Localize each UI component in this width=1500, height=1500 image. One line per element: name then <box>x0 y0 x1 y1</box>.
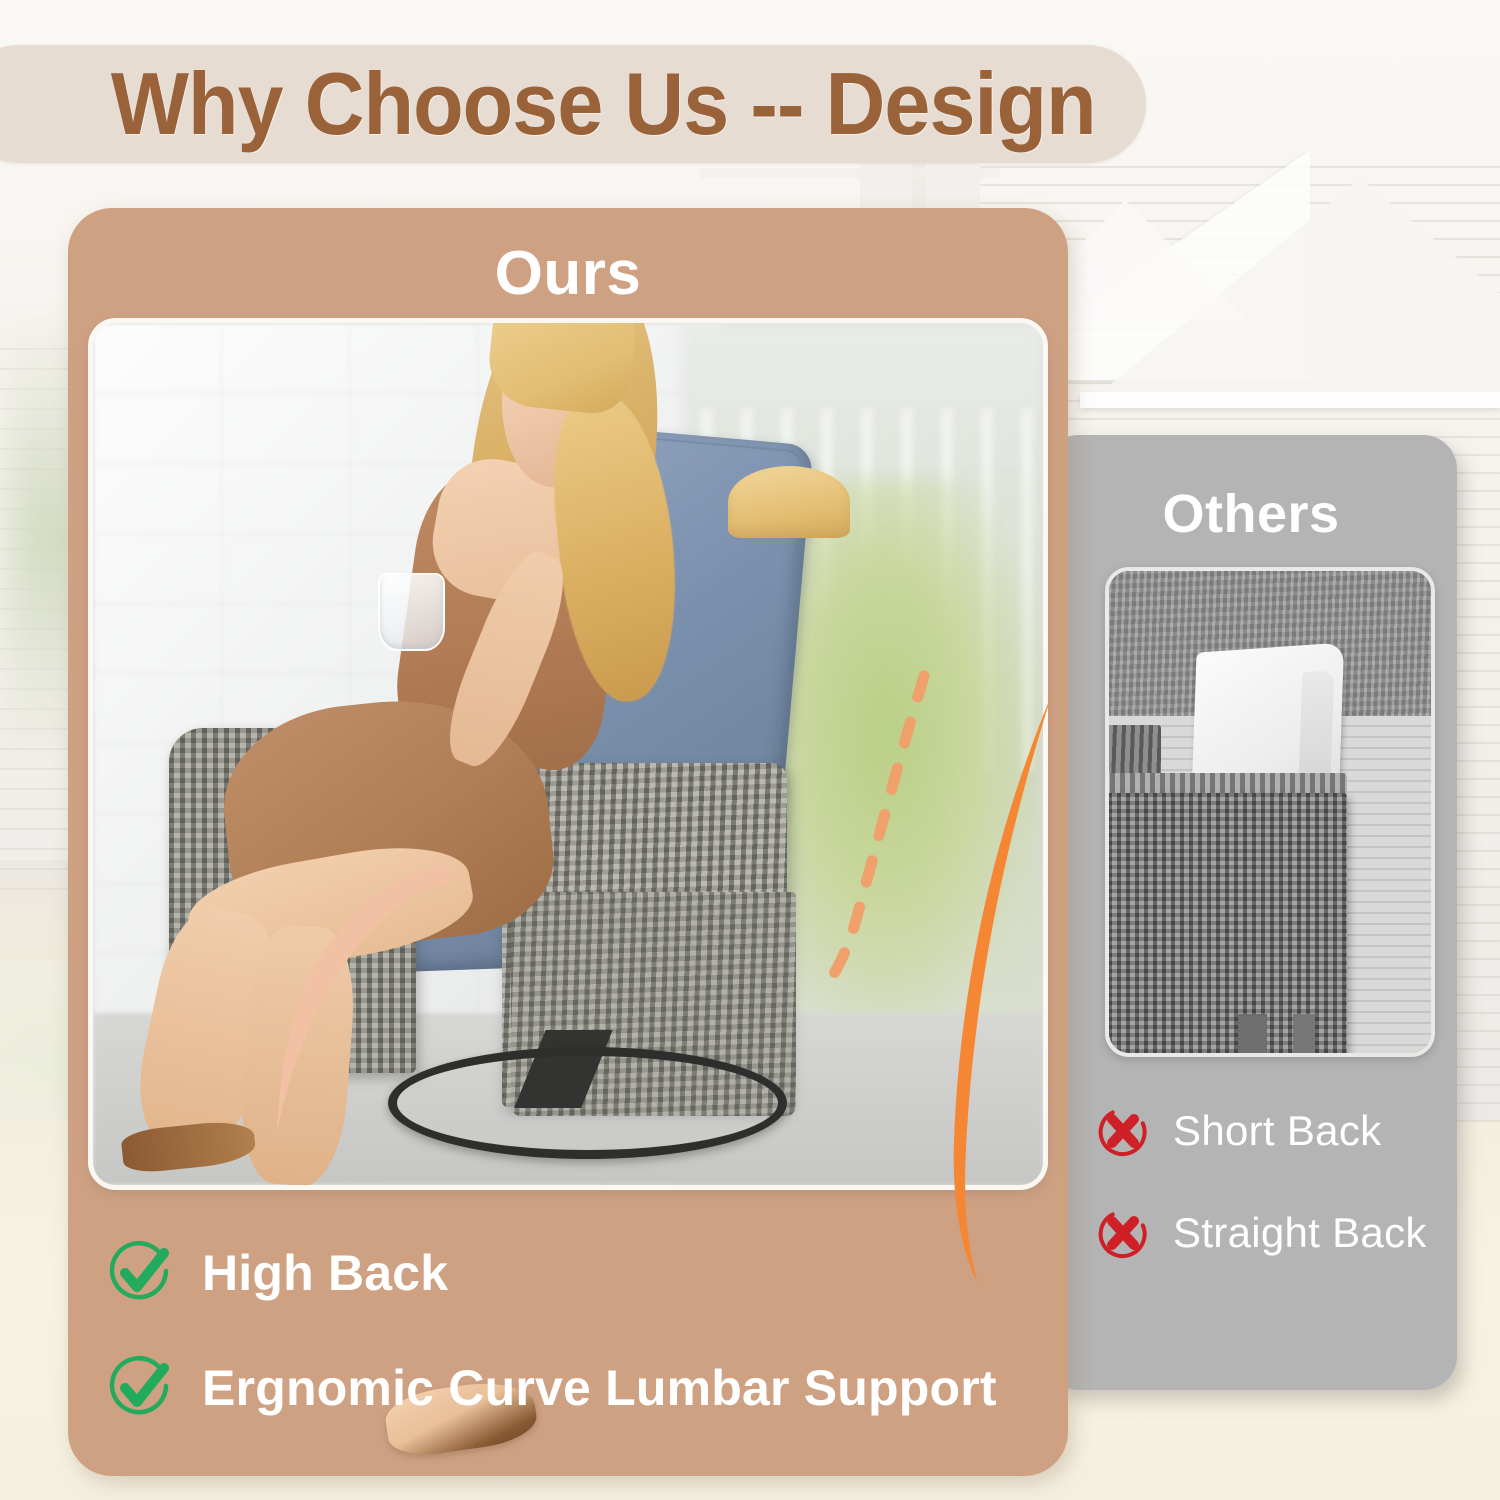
drawback-label: Short Back <box>1173 1107 1381 1155</box>
x-circle-icon <box>1095 1205 1151 1261</box>
drawback-row: Straight Back <box>1095 1205 1427 1261</box>
ours-heading: Ours <box>68 238 1068 309</box>
drawback-label: Straight Back <box>1173 1209 1427 1257</box>
ours-panel: Ours <box>68 208 1068 1476</box>
benefit-label: Ergnomic Curve Lumbar Support <box>202 1359 997 1417</box>
check-circle-icon <box>106 1238 176 1308</box>
chair-swivel-base <box>388 1047 787 1159</box>
others-product-photo <box>1105 567 1435 1057</box>
infographic-page: Others Short Back <box>0 0 1500 1500</box>
x-circle-icon <box>1095 1103 1151 1159</box>
ours-product-photo <box>88 318 1048 1190</box>
benefit-row: High Back <box>106 1238 448 1308</box>
check-circle-icon <box>106 1353 176 1423</box>
benefit-row: Ergnomic Curve Lumbar Support <box>106 1353 997 1423</box>
background-roof-edge <box>1080 392 1500 408</box>
title-banner: Why Choose Us -- Design <box>0 45 1146 163</box>
others-sofa-leg-1 <box>1238 1014 1267 1053</box>
drawback-row: Short Back <box>1095 1103 1381 1159</box>
model-head-breakout <box>728 466 850 538</box>
others-sofa-leg-2 <box>1293 1014 1316 1053</box>
background-rail <box>700 168 1000 178</box>
page-title: Why Choose Us -- Design <box>111 53 1096 155</box>
model-cup <box>378 573 445 651</box>
others-heading: Others <box>1045 483 1457 545</box>
others-panel: Others Short Back <box>1045 435 1457 1390</box>
benefit-label: High Back <box>202 1244 448 1302</box>
